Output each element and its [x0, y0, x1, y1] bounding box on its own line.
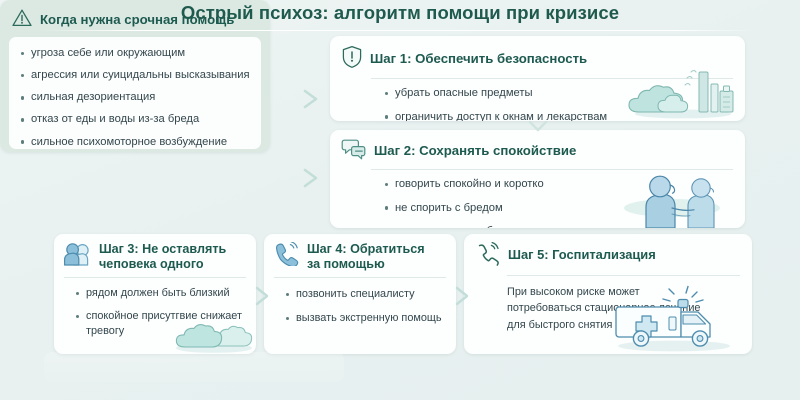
step-3-divider [64, 277, 246, 278]
warning-list: угроза себе или окружающим агрессия или … [31, 46, 251, 149]
arrow-step3-to-step4 [252, 285, 276, 307]
infographic-canvas: Острый психоз: алгоритм помощи при кризи… [0, 0, 800, 400]
list-item: угроза себе или окружающим [31, 46, 251, 61]
list-item: спокойное присутгвие снижает тревогу [86, 309, 246, 337]
step-4-card: Шаг 4: Обратитьсяза помощью позвонить сп… [264, 234, 456, 354]
list-item: позвонить специалисту [296, 287, 446, 301]
step-2-header: Шаг 2: Сохранять спокойствие [341, 137, 733, 164]
background-panel-shadow [44, 352, 344, 382]
step-3-title: Шаг 3: Не оставлятьчеповека одного [99, 242, 226, 271]
arrow-warning-to-step2 [300, 167, 326, 189]
step-1-list: убрать опасные предметы ограничить досту… [341, 86, 733, 121]
list-item: агрессия или суицидальны высказывания [31, 68, 251, 83]
list-item: убрать опасные предметы [395, 86, 733, 101]
phone-ringing-icon [274, 242, 300, 269]
arrow-warning-to-step1 [300, 88, 326, 110]
step-5-title: Шаг 5: Госпитализация [508, 248, 656, 263]
shield-alert-icon [341, 45, 363, 72]
list-item: ограничить доступ к окнам и лекарствам [395, 110, 733, 121]
step-4-title: Шаг 4: Обратитьсяза помощью [307, 242, 425, 271]
step-2-title: Шаг 2: Сохранять спокойствие [374, 143, 576, 158]
speech-bubbles-icon [341, 137, 367, 164]
list-item: отказ от еды и воды из-за бреда [31, 112, 251, 127]
list-item: не спорить с бредом [395, 201, 733, 216]
list-item: не подтверждать бредовые идеи [395, 224, 733, 228]
step-1-title: Шаг 1: Обеспечить безопасность [370, 51, 587, 66]
arrow-step4-to-step5 [452, 285, 476, 307]
list-item: сильное психомоторное возбуждение [31, 135, 251, 150]
step-1-divider [371, 78, 733, 79]
step-3-card: Шаг 3: Не оставлятьчеповека одного рядом… [54, 234, 256, 354]
step-1-card: Шаг 1: Обеспечить безопасность убрать оп… [330, 36, 745, 121]
list-item: рядом должен быть близкий [86, 286, 246, 300]
step-4-title-line2: за помощью [307, 257, 385, 271]
step-5-card: Шаг 5: Госпитализация При высоком риске … [464, 234, 752, 354]
step-3-title-line2: чеповека одного [99, 257, 204, 271]
step-4-header: Шаг 4: Обратитьсяза помощью [274, 242, 446, 271]
page-title: Острый психоз: алгоритм помощи при кризи… [0, 2, 800, 24]
step-2-divider [371, 169, 733, 170]
step-2-list: говорить спокойно и коротко не спорить с… [341, 177, 733, 228]
step-1-header: Шаг 1: Обеспечить безопасность [341, 45, 733, 72]
step-2-card: Шаг 2: Сохранять спокойствие говорить сп… [330, 130, 745, 228]
step-4-title-line1: Шаг 4: Обратиться [307, 242, 425, 256]
list-item: говорить спокойно и коротко [395, 177, 733, 192]
step-3-header: Шаг 3: Не оставлятьчеповека одного [64, 242, 246, 271]
step-3-title-line1: Шаг 3: Не оставлять [99, 242, 226, 256]
step-5-header: Шаг 5: Госпитализация [475, 242, 740, 269]
warning-list-panel: угроза себе или окружающим агрессия или … [9, 37, 261, 149]
step-5-divider [507, 275, 740, 276]
title-divider [42, 30, 758, 31]
list-item: сильная дезориентация [31, 90, 251, 105]
list-item: вызвать экстренную помощь [296, 311, 446, 325]
phone-ringing-icon [475, 242, 501, 269]
step-3-list: рядом должен быть близкий спокойное прис… [64, 286, 246, 338]
step-5-body: При высоком риске может потребоваться ст… [475, 284, 707, 333]
step-4-list: позвонить специалисту вызвать экстренную… [274, 287, 446, 325]
arrow-step1-to-step2 [527, 118, 549, 134]
step-4-divider [274, 277, 446, 278]
two-persons-icon [64, 243, 92, 270]
